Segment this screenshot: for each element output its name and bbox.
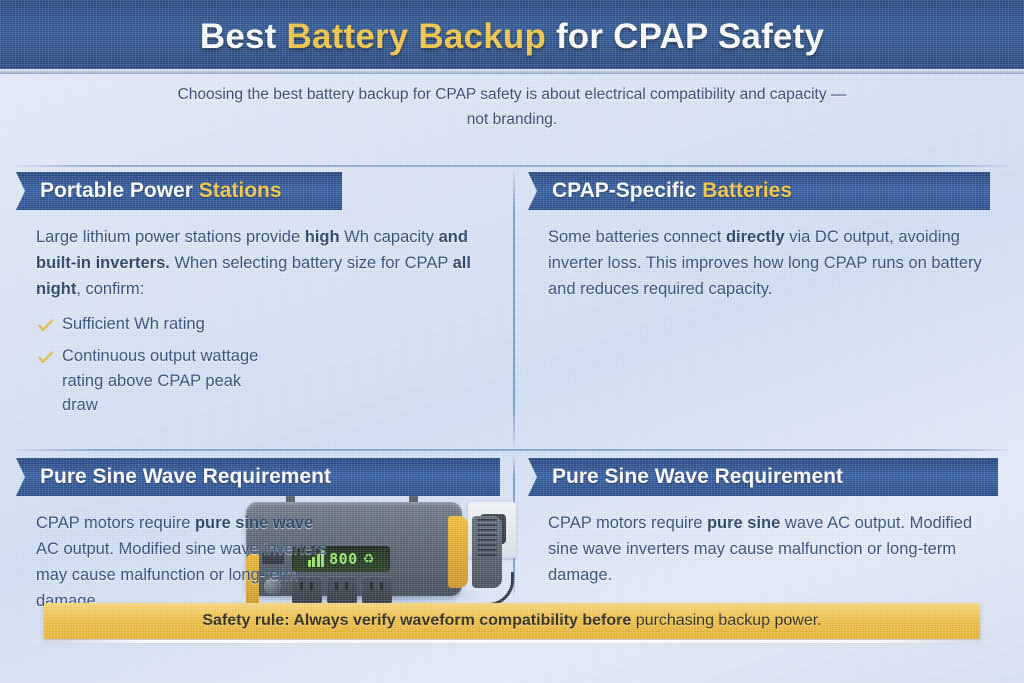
body-bold-1: pure sine	[707, 514, 780, 532]
panel-cpap-specific-batteries: CPAP-Specific Batteries Some batteries c…	[528, 172, 1012, 444]
body-seg-3: When selecting battery size for CPAP	[170, 254, 453, 272]
footer-underline	[30, 640, 994, 643]
panel-body-text: CPAP motors require pure sine wave AC ou…	[528, 510, 990, 588]
panel-pure-sine-wave-requirement-left: Pure Sine Wave Requirement CPAP motors r…	[16, 458, 502, 594]
list-item: Continuous output wattage rating above C…	[38, 344, 273, 418]
body-seg-1: Some batteries connect	[548, 228, 726, 246]
footer-bold-text: Safety rule: Always verify waveform comp…	[202, 612, 635, 629]
body-seg-1: CPAP motors require	[36, 514, 195, 532]
list-item-label: Continuous output wattage rating above C…	[62, 344, 273, 418]
ribbon-header-pure-sine-wave-right: Pure Sine Wave Requirement	[528, 458, 998, 496]
check-mark-icon	[38, 347, 53, 372]
heading-segment-white: CPAP-Specific	[552, 179, 702, 202]
title-segment-1: Best	[200, 17, 287, 56]
ribbon-header-pure-sine-wave-left: Pure Sine Wave Requirement	[16, 458, 500, 496]
panel-heading: Portable Power Stations	[40, 179, 282, 203]
body-seg-2: Wh capacity	[340, 228, 439, 246]
page-title: Best Battery Backup for CPAP Safety	[200, 17, 824, 57]
body-bold-1: directly	[726, 228, 785, 246]
panel-heading: Pure Sine Wave Requirement	[552, 465, 843, 489]
divider-horizontal-top	[16, 165, 1008, 167]
body-seg-4: , confirm:	[76, 280, 144, 298]
panel-portable-power-stations: Portable Power Stations Large lithium po…	[16, 172, 502, 444]
panel-body-text: Large lithium power stations provide hig…	[16, 224, 494, 302]
body-seg-1: CPAP motors require	[548, 514, 707, 532]
panel-body-text: Some batteries connect directly via DC o…	[528, 224, 1012, 302]
footer-safety-banner: Safety rule: Always verify waveform comp…	[44, 603, 980, 639]
subtitle-block: Choosing the best battery backup for CPA…	[0, 82, 1024, 132]
ribbon-header-cpap-specific-batteries: CPAP-Specific Batteries	[528, 172, 990, 210]
list-item: Sufficient Wh rating	[38, 312, 273, 340]
heading-segment-white: Portable Power	[40, 179, 199, 202]
footer-text: Safety rule: Always verify waveform comp…	[202, 612, 821, 630]
header-band: Best Battery Backup for CPAP Safety	[0, 0, 1024, 74]
check-mark-icon	[38, 315, 53, 340]
divider-horizontal-middle	[16, 449, 1008, 451]
panel-heading: CPAP-Specific Batteries	[552, 179, 792, 203]
footer-regular-text: purchasing backup power.	[636, 612, 822, 629]
list-item-label: Sufficient Wh rating	[62, 312, 205, 337]
title-segment-highlight: Battery Backup	[286, 17, 546, 56]
body-seg-2: AC output. Modified sine wave inverters …	[36, 540, 327, 610]
heading-segment-gold: Batteries	[702, 179, 792, 202]
panel-pure-sine-wave-requirement-right: Pure Sine Wave Requirement CPAP motors r…	[528, 458, 1012, 594]
title-segment-3: for CPAP Safety	[546, 17, 824, 56]
subtitle-line-2: not branding.	[110, 107, 914, 132]
checklist: Sufficient Wh rating Continuous output w…	[16, 312, 502, 418]
subtitle-line-1: Choosing the best battery backup for CPA…	[110, 82, 914, 107]
infographic-root: Best Battery Backup for CPAP Safety Choo…	[0, 0, 1024, 683]
divider-vertical-upper	[513, 170, 515, 448]
body-seg-1: Large lithium power stations provide	[36, 228, 305, 246]
body-bold-1: high	[305, 228, 340, 246]
panel-body-text: CPAP motors require pure sine wave AC ou…	[16, 510, 346, 614]
body-bold-1: pure sine wave	[195, 514, 313, 532]
panel-heading: Pure Sine Wave Requirement	[40, 465, 331, 489]
heading-segment-gold: Stations	[199, 179, 282, 202]
ribbon-header-portable-power-stations: Portable Power Stations	[16, 172, 342, 210]
